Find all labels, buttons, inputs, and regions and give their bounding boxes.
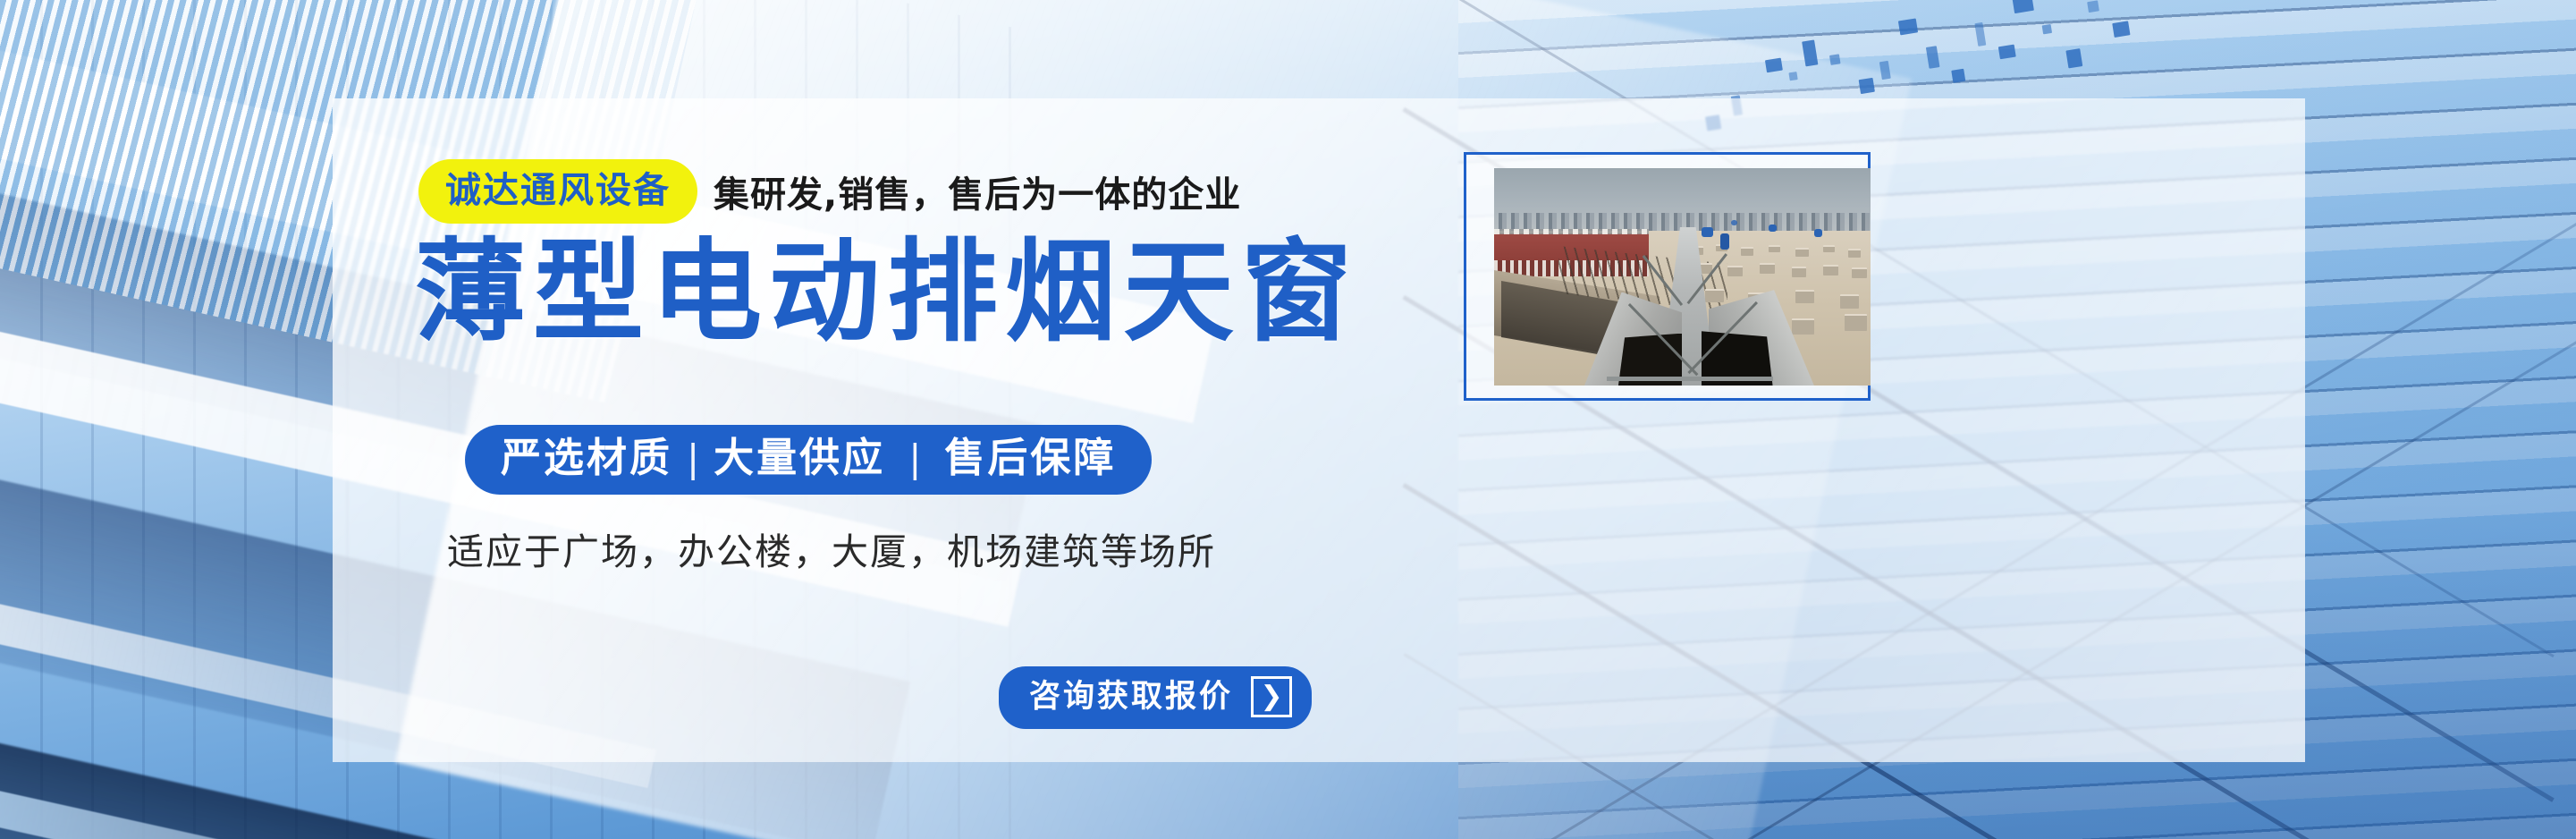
photo-blue-equipment-1 [1702,227,1713,237]
photo-skylight-sill [1607,377,1772,381]
description-text: 适应于广场，办公楼，大厦，机场建筑等场所 [447,521,1216,575]
feature-item-2: 大量供应 [714,436,885,480]
feature-item-1: 严选材质 [501,436,672,480]
feature-item-3: 售后保障 [944,436,1116,480]
feature-pill: 严选材质 | 大量供应 | 售后保障 [465,425,1152,495]
content-layer: 诚达通风设备 集研发,销售，售后为一体的企业 薄型电动排烟天窗 严选材质 | 大… [333,98,2305,762]
product-photo [1494,168,1871,386]
tagline-text: 集研发,销售，售后为一体的企业 [714,165,1241,217]
page-title: 薄型电动排烟天窗 [415,231,1359,355]
cta-quote-button[interactable]: 咨询获取报价 ❯ [999,666,1312,729]
chevron-right-icon: ❯ [1251,676,1292,717]
photo-blue-equipment-2 [1720,233,1729,250]
feature-separator-2: | [885,437,944,479]
photo-blue-equipment-3 [1769,225,1777,232]
brand-badge: 诚达通风设备 [418,159,697,224]
photo-sky [1494,168,1871,235]
banner-root: 诚达通风设备 集研发,销售，售后为一体的企业 薄型电动排烟天窗 严选材质 | 大… [0,0,2576,839]
feature-separator-1: | [672,437,714,479]
photo-blue-equipment-4 [1814,229,1822,237]
photo-red-building-top [1494,229,1649,234]
tagline-row: 诚达通风设备 集研发,销售，售后为一体的企业 [418,159,1241,224]
cta-label: 咨询获取报价 [1029,679,1233,715]
